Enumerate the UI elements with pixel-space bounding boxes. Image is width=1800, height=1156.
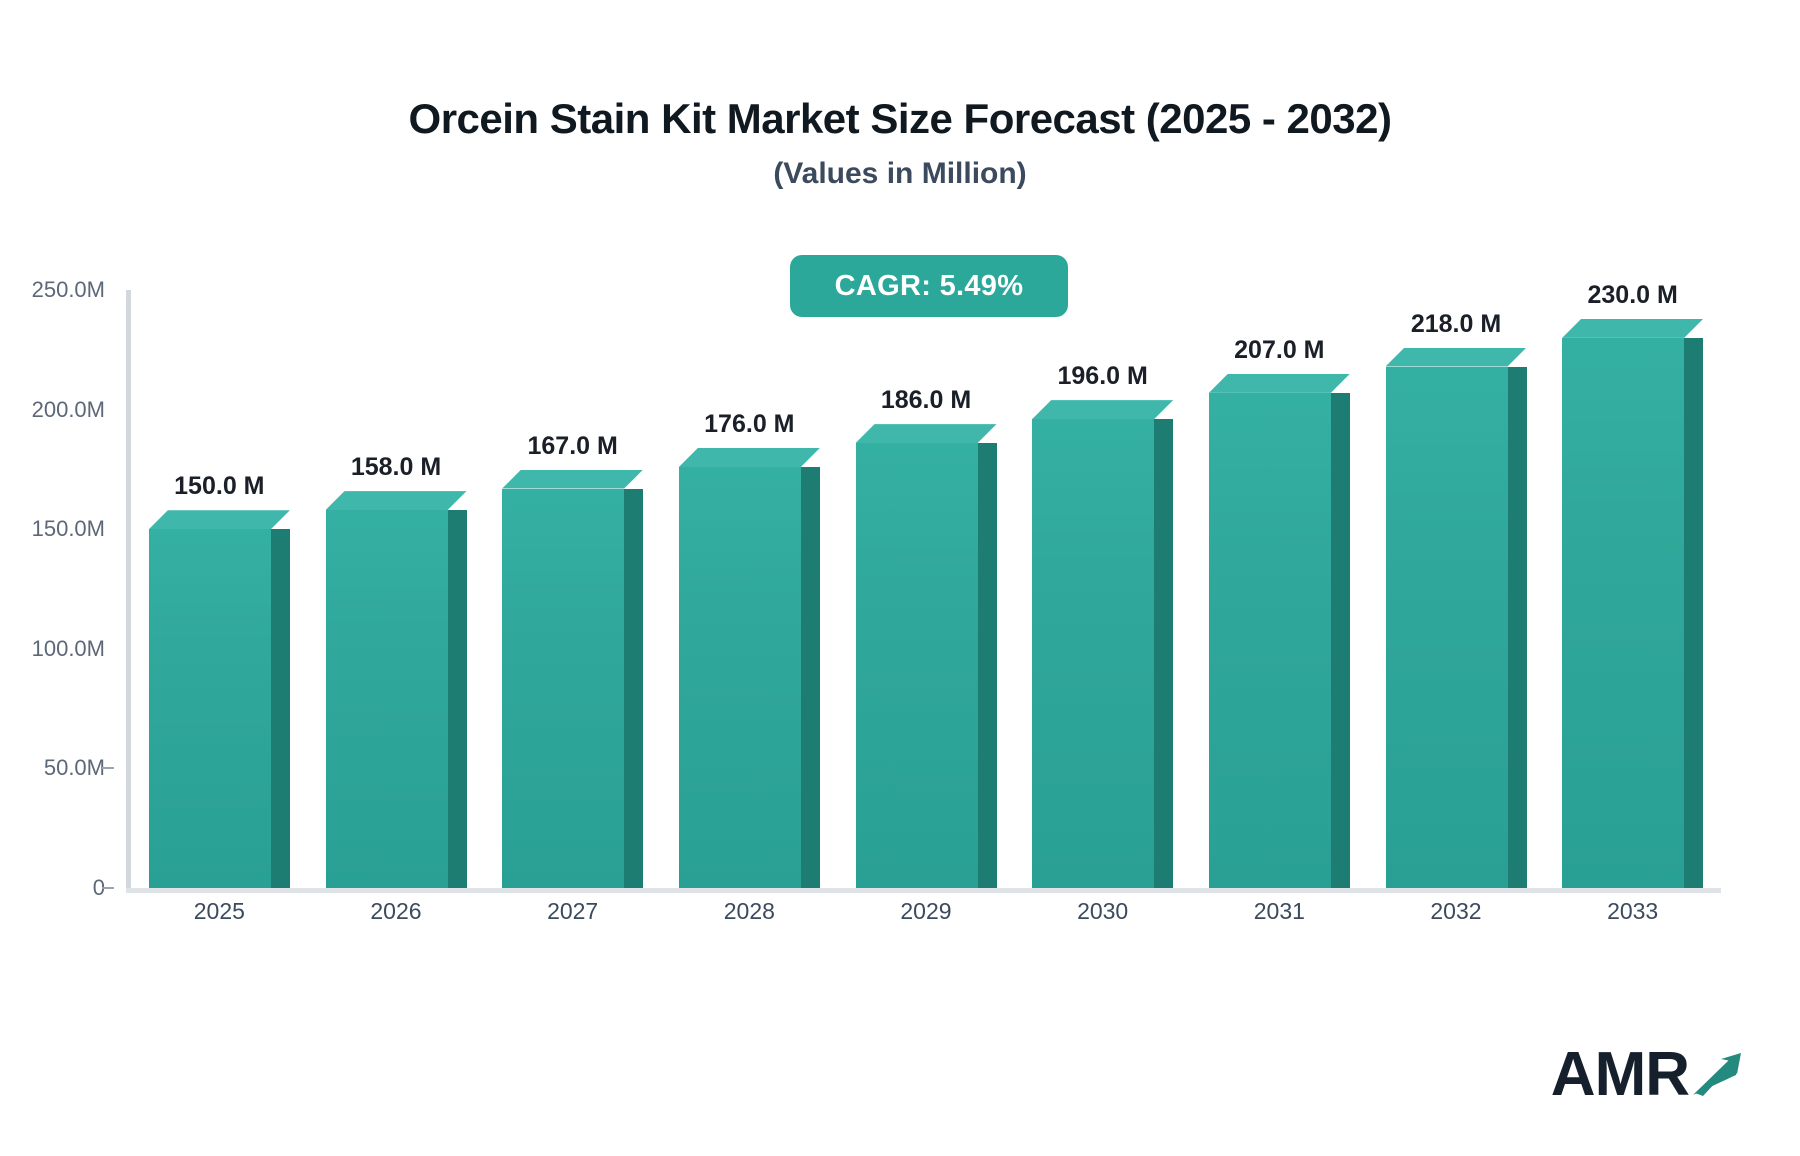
x-axis-tick-label: 2025 [131,898,308,925]
bar-front-face [1386,367,1508,888]
bar-column[interactable]: 186.0 M [856,290,997,888]
growth-arrow-icon [1691,1049,1745,1102]
bar-column[interactable]: 150.0 M [149,290,290,888]
bar-column[interactable]: 158.0 M [326,290,467,888]
bar-top-face-shape [1032,400,1173,419]
bar-top-face [326,491,467,510]
bar-column[interactable]: 230.0 M [1562,290,1703,888]
x-axis-tick-label: 2030 [1014,898,1191,925]
bar-front-face [1032,419,1154,888]
bar-body [1386,367,1527,888]
bar-value-label: 186.0 M [856,386,997,415]
bar-top-face [1562,319,1703,338]
y-axis-tick-label: 50.0M [44,755,105,781]
bar-body [679,467,820,888]
bar-column[interactable]: 196.0 M [1032,290,1173,888]
x-axis-tick-label: 2032 [1368,898,1545,925]
bar-body [1032,419,1173,888]
bar-side-face [1154,419,1173,888]
y-axis-tick-mark [102,887,114,889]
bar-column[interactable]: 218.0 M [1386,290,1527,888]
cagr-badge: CAGR: 5.49% [790,255,1068,317]
y-axis-tick-label: 200.0M [32,397,105,423]
bar-value-label: 196.0 M [1032,362,1173,391]
x-axis-tick-label: 2026 [308,898,485,925]
bar-side-face [1508,367,1527,888]
bar-chart-plot: 050.0M100.0M150.0M200.0M250.0M 150.0 M15… [0,0,1800,1156]
bar-column[interactable]: 167.0 M [502,290,643,888]
bar-top-face-shape [1386,348,1527,367]
bar-top-face [1032,400,1173,419]
x-axis-tick-label: 2027 [484,898,661,925]
bar-body [856,443,997,888]
x-axis-tick-label: 2031 [1191,898,1368,925]
bar-side-face [978,443,997,888]
amr-logo: AMR [1551,1044,1745,1106]
bar-body [502,489,643,888]
bar-top-face-shape [326,491,467,510]
bar-top-face [679,448,820,467]
y-axis-tick-mark [102,767,114,769]
bar-side-face [1331,393,1350,888]
bar-front-face [326,510,448,888]
bar-body [149,529,290,888]
y-axis-tick-label: 150.0M [32,516,105,542]
bar-top-face [149,510,290,529]
cagr-badge-label: CAGR: 5.49% [835,270,1024,303]
x-axis-baseline [126,888,1721,893]
bar-top-face-shape [856,424,997,443]
bar-top-face-shape [149,510,290,529]
bar-front-face [502,489,624,888]
amr-logo-text: AMR [1551,1044,1689,1106]
bar-value-label: 218.0 M [1386,310,1527,339]
bar-front-face [679,467,801,888]
bar-top-face-shape [679,448,820,467]
x-axis-tick-label: 2028 [661,898,838,925]
bar-body [1209,393,1350,888]
bar-front-face [1209,393,1331,888]
bar-top-face-shape [1562,319,1703,338]
bar-side-face [1684,338,1703,888]
bar-top-face [1386,348,1527,367]
bar-front-face [856,443,978,888]
bar-top-face-shape [502,470,643,489]
bar-top-face [1209,374,1350,393]
bar-group: 150.0 M158.0 M167.0 M176.0 M186.0 M196.0… [131,290,1721,888]
bar-value-label: 230.0 M [1562,281,1703,310]
bar-value-label: 176.0 M [679,410,820,439]
bar-top-face-shape [1209,374,1350,393]
bar-side-face [448,510,467,888]
bar-value-label: 207.0 M [1209,336,1350,365]
x-axis-tick-label: 2029 [838,898,1015,925]
bar-column[interactable]: 176.0 M [679,290,820,888]
bar-top-face [502,470,643,489]
bar-front-face [1562,338,1684,888]
bar-front-face [149,529,271,888]
y-axis-tick-label: 250.0M [32,277,105,303]
bar-body [1562,338,1703,888]
bar-value-label: 150.0 M [149,472,290,501]
bar-column[interactable]: 207.0 M [1209,290,1350,888]
bar-value-label: 167.0 M [502,432,643,461]
y-axis-tick-label: 100.0M [32,636,105,662]
bar-side-face [271,529,290,888]
bar-side-face [801,467,820,888]
bar-side-face [624,489,643,888]
bar-body [326,510,467,888]
bar-top-face [856,424,997,443]
x-axis-tick-label: 2033 [1544,898,1721,925]
bar-value-label: 158.0 M [326,453,467,482]
